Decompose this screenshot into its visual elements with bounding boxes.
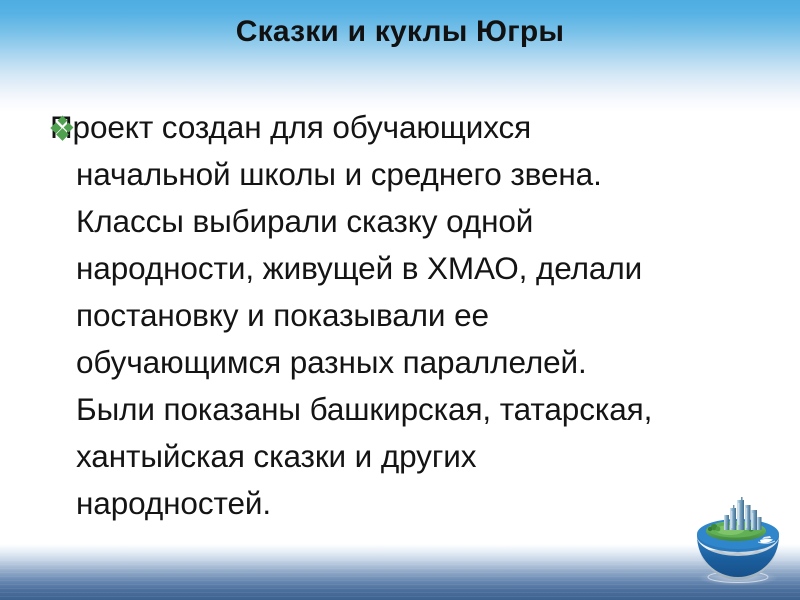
body-line-text: народностей. [76,480,271,527]
body-line: обучающимся разных параллелей. [50,339,760,386]
body-line-text: хантыйская сказки и других [76,433,476,480]
body-line-text: постановку и показывали ее [76,292,489,339]
body-line: Проект создан для обучающихся [50,104,760,151]
green-diamond-cluster-bullet-icon [52,117,74,139]
globe-island-city-graphic-icon [688,496,788,588]
body-line: начальной школы и среднего звена. [50,151,760,198]
body-line-text: Проект создан для обучающихся [50,104,531,151]
body-line: постановку и показывали ее [50,292,760,339]
body-line: народностей. [50,480,760,527]
body-line-text: начальной школы и среднего звена. [76,151,602,198]
body-line-text: обучающимся разных параллелей. [76,339,587,386]
presentation-slide: Сказки и куклы Югры Проект создан для об… [0,0,800,600]
body-line: Были показаны башкирская, татарская, [50,386,760,433]
slide-body-text: Проект создан для обучающихся начальной … [50,104,760,527]
body-line: хантыйская сказки и других [50,433,760,480]
water-shimmer-overlay [0,560,800,600]
page-title: Сказки и куклы Югры [0,14,800,50]
body-line: Классы выбирали сказку одной [50,198,760,245]
body-line-text: Были показаны башкирская, татарская, [76,386,652,433]
body-line: народности, живущей в ХМАО, делали [50,245,760,292]
body-line-text: народности, живущей в ХМАО, делали [76,245,642,292]
body-line-text: Классы выбирали сказку одной [76,198,533,245]
